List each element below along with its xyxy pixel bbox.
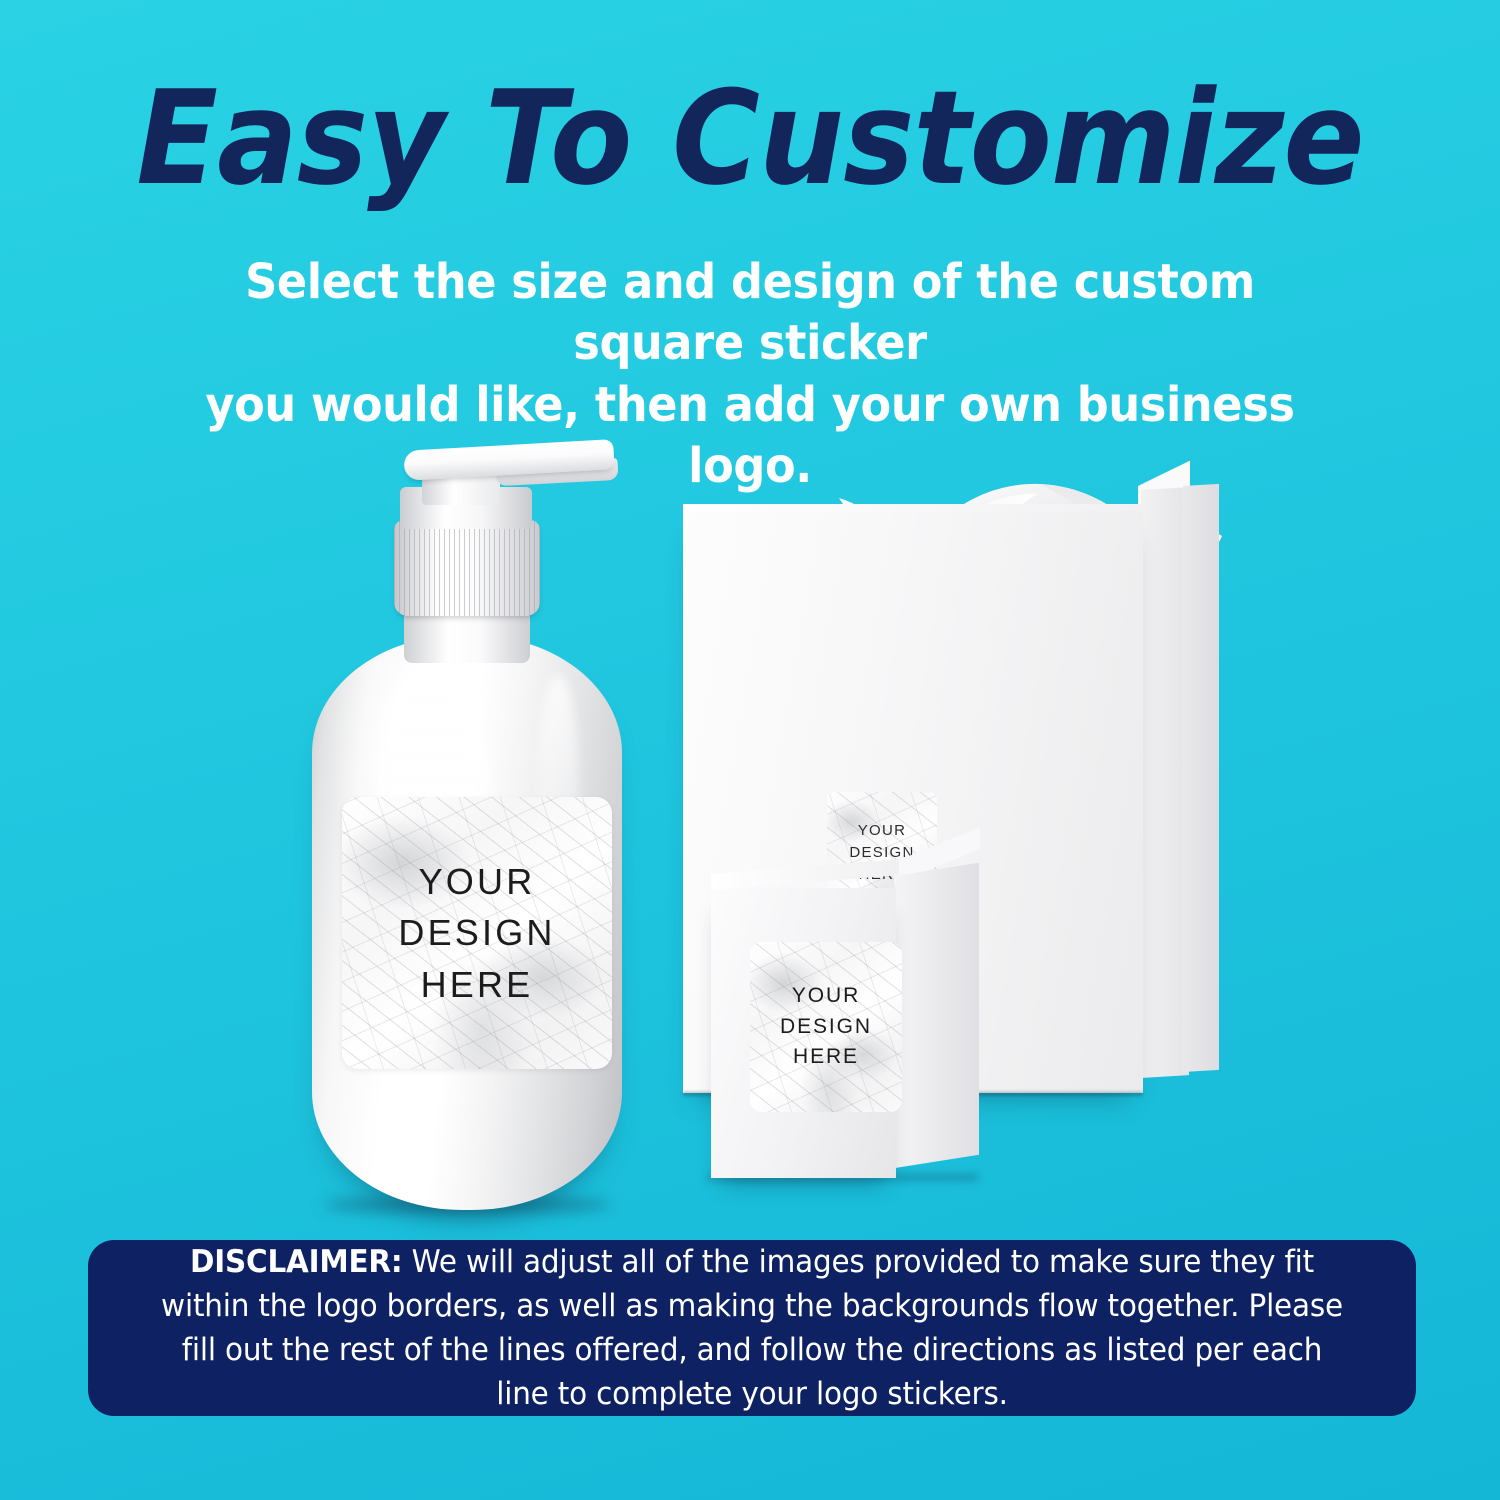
sticker-line-2: DESIGN	[780, 1012, 872, 1042]
gift-box-lid-lip	[683, 504, 1144, 511]
sticker-bottle-label: YOUR DESIGN HERE	[342, 797, 612, 1069]
sticker-line-1: YOUR	[858, 820, 907, 842]
product-mockup-scene: YOUR DESIGN HERE YOUR DESIGN HERE	[0, 400, 1500, 1230]
promotional-banner: Easy To Customize Select the size and de…	[0, 0, 1500, 1500]
sticker-line-1: YOUR	[419, 856, 536, 907]
sticker-line-1: YOUR	[792, 981, 860, 1011]
pump-collar-ribbed	[394, 520, 540, 616]
subtitle-line-1: Select the size and design of the custom…	[155, 252, 1345, 375]
disclaimer-box: DISCLAIMER: We will adjust all of the im…	[88, 1240, 1416, 1416]
disclaimer-label: DISCLAIMER:	[190, 1244, 403, 1280]
sticker-line-3: HERE	[421, 959, 534, 1010]
sticker-line-2: DESIGN	[398, 907, 555, 958]
page-title: Easy To Customize	[60, 72, 1440, 205]
small-product-box: YOUR DESIGN HERE	[32, 888, 332, 1188]
disclaimer-text: DISCLAIMER: We will adjust all of the im…	[154, 1240, 1351, 1416]
pump-bottle: YOUR DESIGN HERE	[300, 425, 630, 1215]
sticker-small-box: YOUR DESIGN HERE	[750, 942, 902, 1112]
gift-box-side-panel-2	[1183, 484, 1219, 1072]
gift-box-side-panel	[1141, 487, 1189, 1078]
sticker-line-3: HERE	[793, 1042, 859, 1072]
small-box-side-face	[895, 863, 979, 1168]
